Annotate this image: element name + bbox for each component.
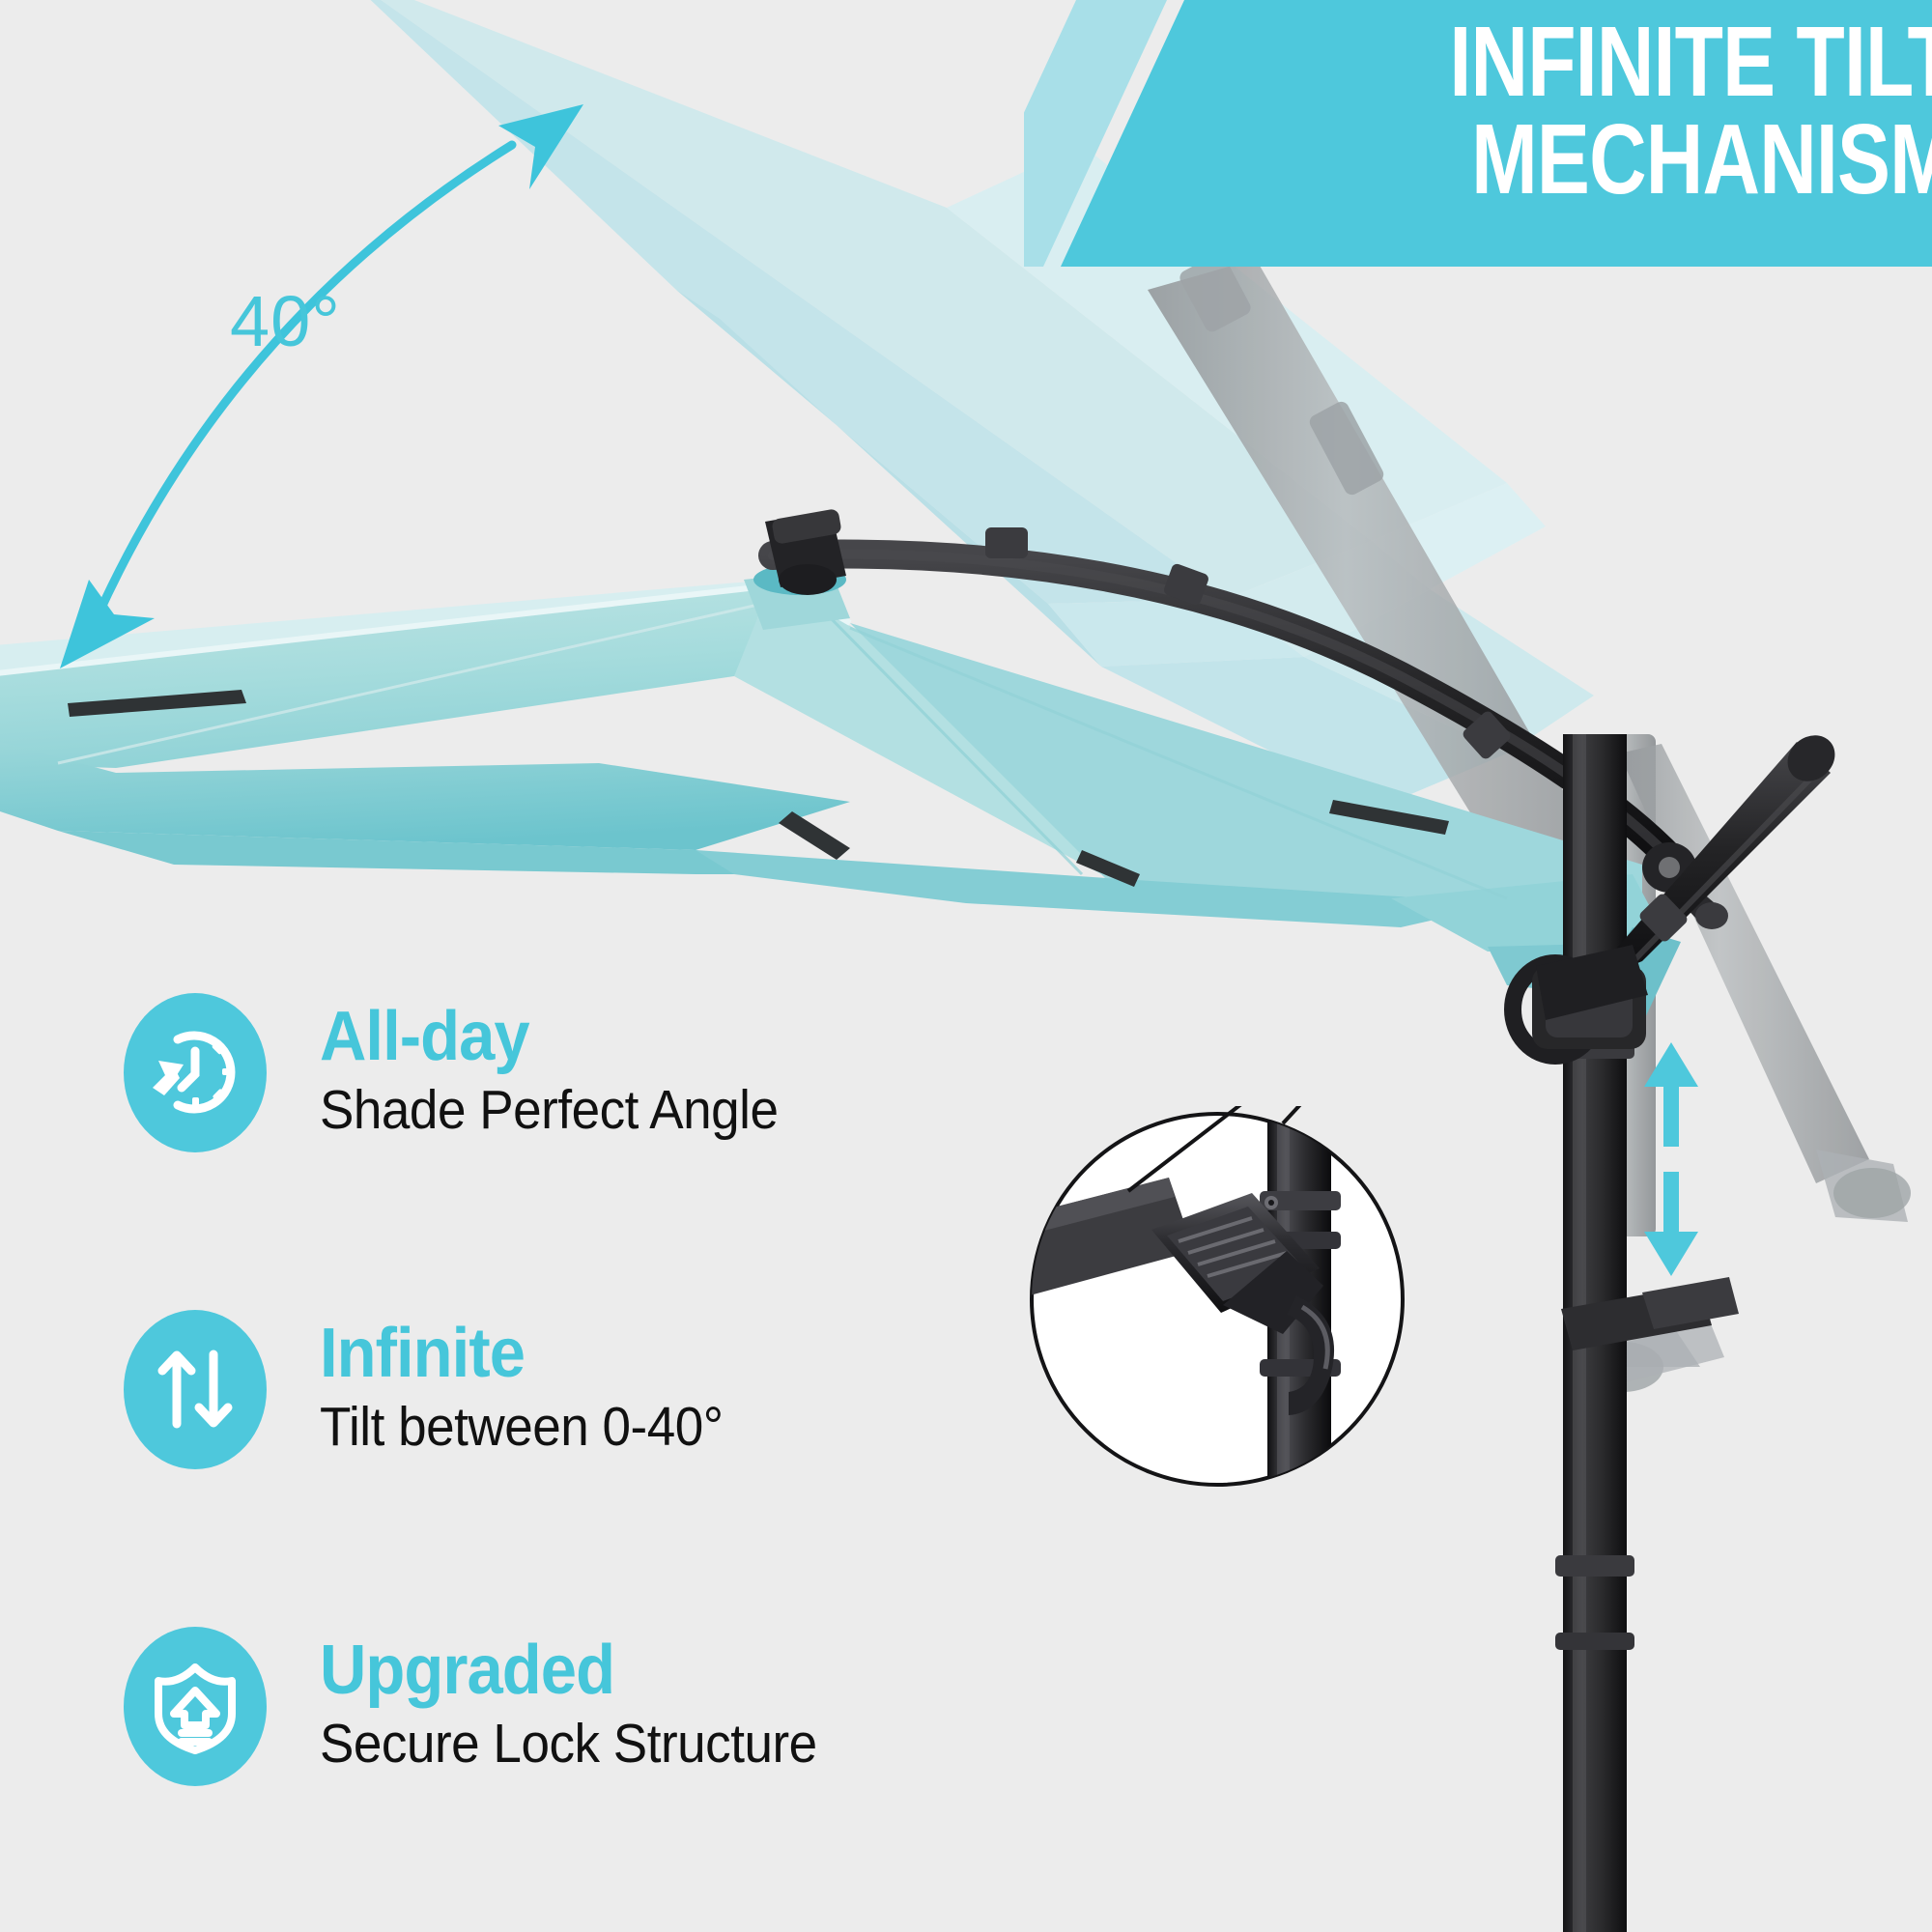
feature-list: All-day Shade Perfect Angle (124, 976, 993, 1803)
feature-icon-badge (124, 993, 267, 1152)
tilt-lock-magnifier-callout (1024, 1106, 1410, 1492)
angle-value-label: 40° (230, 280, 341, 362)
product-feature-graphic: 40° (0, 0, 1932, 1932)
up-down-arrows-icon (145, 1339, 245, 1439)
feature-row-infinite: Infinite Tilt between 0-40° (124, 1293, 993, 1486)
feature-title: All-day (320, 1002, 946, 1071)
feature-row-all-day: All-day Shade Perfect Angle (124, 976, 993, 1169)
feature-row-upgraded: Upgraded Secure Lock Structure (124, 1609, 993, 1803)
feature-text: Upgraded Secure Lock Structure (320, 1635, 993, 1776)
clock-rotate-icon (145, 1022, 245, 1122)
feature-title: Infinite (320, 1319, 946, 1388)
shield-upgrade-icon (145, 1656, 245, 1756)
feature-subtitle: Shade Perfect Angle (320, 1079, 946, 1143)
feature-title: Upgraded (320, 1635, 946, 1705)
feature-subtitle: Tilt between 0-40° (320, 1396, 946, 1460)
feature-icon-badge (124, 1310, 267, 1469)
feature-text: All-day Shade Perfect Angle (320, 1002, 993, 1143)
feature-icon-badge (124, 1627, 267, 1786)
vertical-double-arrow-icon (1633, 1038, 1710, 1280)
feature-text: Infinite Tilt between 0-40° (320, 1319, 993, 1460)
feature-subtitle: Secure Lock Structure (320, 1713, 946, 1776)
